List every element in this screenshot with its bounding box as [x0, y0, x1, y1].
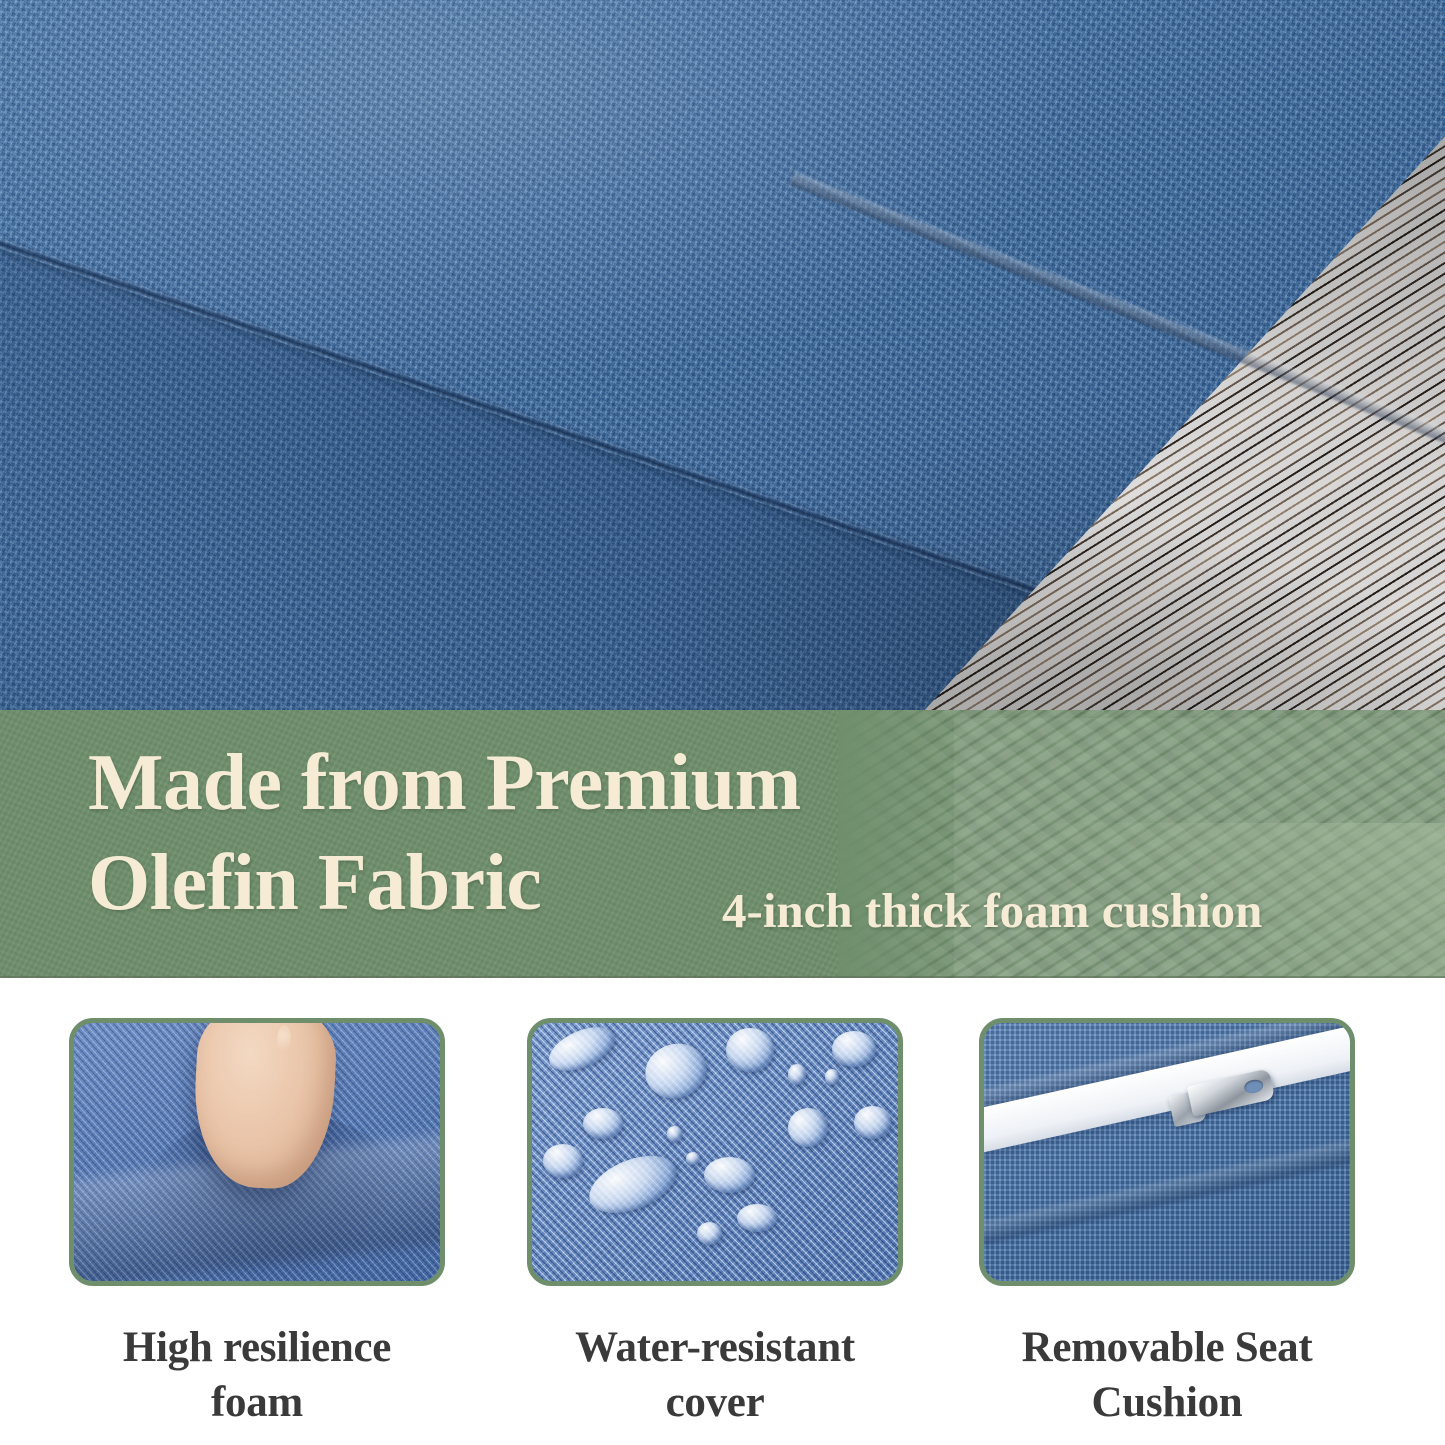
headline-line-1: Made from Premium — [88, 738, 801, 829]
feature-card-water-resistant-cover: Water-resistant cover — [527, 1018, 903, 1430]
water-droplet-icon — [854, 1106, 891, 1140]
zipper-pull-hole — [1243, 1078, 1264, 1095]
feature-caption-line-2: cover — [527, 1375, 903, 1430]
water-droplet-icon — [543, 1144, 583, 1178]
headline-banner: Made from Premium Olefin Fabric 4-inch t… — [0, 710, 1445, 978]
feature-caption: High resilience foam — [69, 1320, 445, 1430]
feature-caption-line-1: Water-resistant — [527, 1320, 903, 1375]
feature-caption-line-1: High resilience — [69, 1320, 445, 1375]
water-droplet-icon — [667, 1126, 682, 1141]
feature-caption-line-2: foam — [69, 1375, 445, 1430]
feature-thumbnail-frame — [527, 1018, 903, 1286]
product-feature-infographic: Made from Premium Olefin Fabric 4-inch t… — [0, 0, 1445, 1445]
hand-pressing-foam-photo — [74, 1023, 440, 1281]
knuckle-highlight — [276, 1025, 291, 1055]
feature-card-high-resilience-foam: High resilience foam — [69, 1018, 445, 1430]
water-droplet-icon — [832, 1031, 876, 1067]
headline-line-2: Olefin Fabric — [88, 838, 541, 929]
feature-card-removable-seat-cushion: Removable Seat Cushion — [979, 1018, 1355, 1430]
water-droplet-icon — [697, 1222, 723, 1245]
water-droplet-icon — [726, 1028, 774, 1072]
hero-lighting-overlay — [0, 0, 1445, 718]
water-droplet-icon — [737, 1204, 777, 1232]
feature-card-row: High resilience foam — [0, 1000, 1445, 1445]
hero-cushion-photo — [0, 0, 1445, 718]
headline-subline: 4-inch thick foam cushion — [722, 882, 1262, 939]
feature-caption: Removable Seat Cushion — [979, 1320, 1355, 1430]
feature-thumbnail-frame — [979, 1018, 1355, 1286]
feature-caption-line-2: Cushion — [979, 1375, 1355, 1430]
water-beading-fabric-photo — [532, 1023, 898, 1281]
water-droplet-icon — [686, 1152, 701, 1165]
feature-caption: Water-resistant cover — [527, 1320, 903, 1430]
feature-thumbnail-frame — [69, 1018, 445, 1286]
feature-caption-line-1: Removable Seat — [979, 1320, 1355, 1375]
zipper-closure-photo — [984, 1023, 1350, 1281]
banner-text-group: Made from Premium Olefin Fabric 4-inch t… — [0, 710, 1445, 978]
